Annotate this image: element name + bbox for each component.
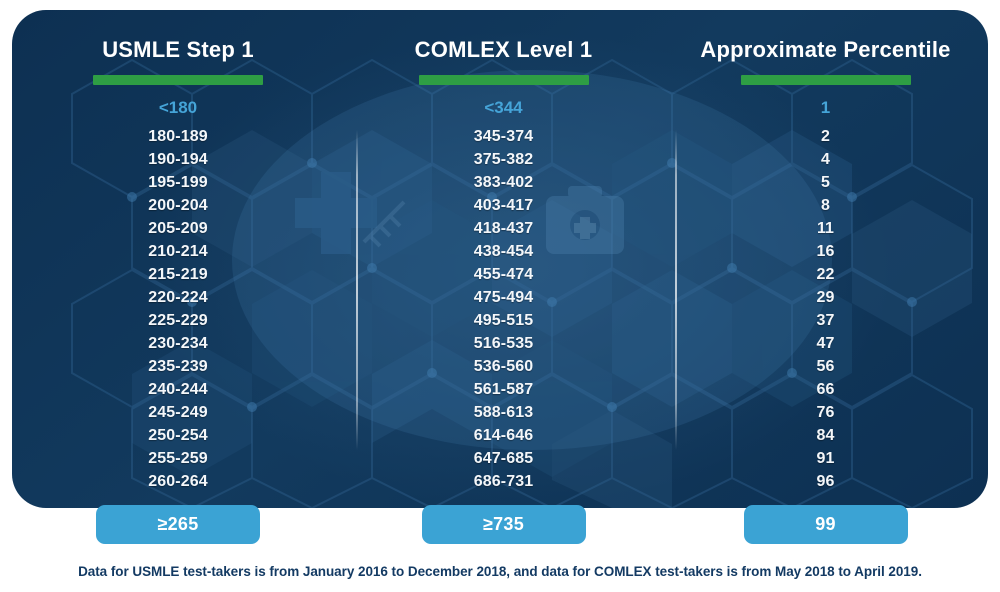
- value-row: 205-209: [148, 217, 207, 240]
- column-first-value: <180: [159, 98, 197, 118]
- value-row: 345-374: [474, 125, 533, 148]
- pill-comlex-top-score: ≥735: [422, 505, 586, 544]
- data-source-footnote: Data for USMLE test-takers is from Janua…: [0, 563, 1000, 581]
- value-row: 91: [817, 447, 835, 470]
- columns-container: USMLE Step 1 <180 180-189 190-194 195-19…: [12, 10, 988, 508]
- value-row: 47: [817, 332, 835, 355]
- value-row: 190-194: [148, 148, 207, 171]
- value-row: 250-254: [148, 424, 207, 447]
- column-first-value: <344: [484, 98, 522, 118]
- value-row: 516-535: [474, 332, 533, 355]
- column-values-list: 2 4 5 8 11 16 22 29 37 47 56 66 76 84 91…: [817, 125, 835, 493]
- column-comlex-level-1: COMLEX Level 1 <344 345-374 375-382 383-…: [344, 10, 663, 508]
- column-title: COMLEX Level 1: [415, 36, 593, 64]
- column-usmle-step-1: USMLE Step 1 <180 180-189 190-194 195-19…: [12, 10, 344, 508]
- column-approximate-percentile: Approximate Percentile 1 2 4 5 8 11 16 2…: [663, 10, 988, 508]
- score-conversion-card: USMLE Step 1 <180 180-189 190-194 195-19…: [12, 10, 988, 508]
- pill-slot-usmle: ≥265: [12, 505, 344, 545]
- value-row: 383-402: [474, 171, 533, 194]
- value-row: 8: [821, 194, 830, 217]
- top-score-pills: ≥265 ≥735 99: [12, 505, 988, 545]
- column-accent-bar: [93, 75, 263, 85]
- value-row: 96: [817, 470, 835, 493]
- value-row: 686-731: [474, 470, 533, 493]
- value-row: 235-239: [148, 355, 207, 378]
- column-title: USMLE Step 1: [102, 36, 254, 64]
- value-row: 260-264: [148, 470, 207, 493]
- value-row: 438-454: [474, 240, 533, 263]
- value-row: 230-234: [148, 332, 207, 355]
- value-row: 495-515: [474, 309, 533, 332]
- value-row: 22: [817, 263, 835, 286]
- value-row: 647-685: [474, 447, 533, 470]
- pill-usmle-top-score: ≥265: [96, 505, 260, 544]
- column-title: Approximate Percentile: [700, 36, 950, 64]
- value-row: 403-417: [474, 194, 533, 217]
- column-accent-bar: [419, 75, 589, 85]
- value-row: 11: [817, 217, 834, 240]
- value-row: 37: [817, 309, 835, 332]
- pill-percentile-top: 99: [744, 505, 908, 544]
- value-row: 29: [817, 286, 835, 309]
- value-row: 195-199: [148, 171, 207, 194]
- column-first-value: 1: [821, 98, 830, 118]
- value-row: 56: [817, 355, 835, 378]
- column-values-list: 345-374 375-382 383-402 403-417 418-437 …: [474, 125, 533, 493]
- value-row: 200-204: [148, 194, 207, 217]
- value-row: 5: [821, 171, 830, 194]
- column-values-list: 180-189 190-194 195-199 200-204 205-209 …: [148, 125, 207, 493]
- value-row: 375-382: [474, 148, 533, 171]
- value-row: 225-229: [148, 309, 207, 332]
- value-row: 16: [817, 240, 835, 263]
- value-row: 84: [817, 424, 835, 447]
- value-row: 66: [817, 378, 835, 401]
- value-row: 455-474: [474, 263, 533, 286]
- column-accent-bar: [741, 75, 911, 85]
- pill-slot-comlex: ≥735: [344, 505, 663, 545]
- value-row: 215-219: [148, 263, 207, 286]
- value-row: 561-587: [474, 378, 533, 401]
- value-row: 475-494: [474, 286, 533, 309]
- value-row: 614-646: [474, 424, 533, 447]
- value-row: 180-189: [148, 125, 207, 148]
- value-row: 210-214: [148, 240, 207, 263]
- pill-slot-percentile: 99: [663, 505, 988, 545]
- infographic-root: USMLE Step 1 <180 180-189 190-194 195-19…: [0, 0, 1000, 592]
- value-row: 588-613: [474, 401, 533, 424]
- value-row: 220-224: [148, 286, 207, 309]
- value-row: 418-437: [474, 217, 533, 240]
- value-row: 2: [821, 125, 830, 148]
- value-row: 255-259: [148, 447, 207, 470]
- value-row: 4: [821, 148, 830, 171]
- value-row: 240-244: [148, 378, 207, 401]
- value-row: 245-249: [148, 401, 207, 424]
- value-row: 76: [817, 401, 835, 424]
- value-row: 536-560: [474, 355, 533, 378]
